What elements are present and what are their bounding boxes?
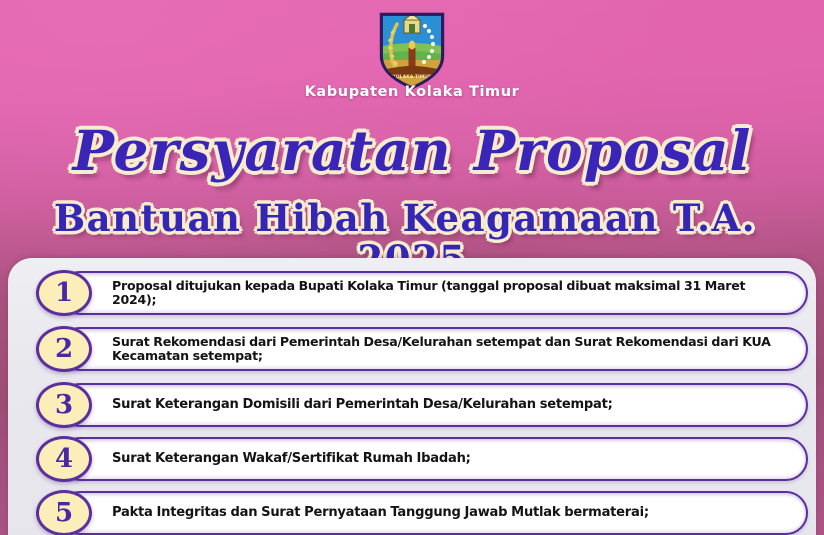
requirement-pill-1: Proposal ditujukan kepada Bupati Kolaka … (58, 271, 808, 315)
list-item: Surat Keterangan Domisili dari Pemerinta… (16, 380, 808, 430)
list-item: Surat Keterangan Wakaf/Sertifikat Rumah … (16, 434, 808, 484)
requirement-badge-1: 1 (36, 270, 92, 316)
poster-root: KOLAKA TIMUR Kabupaten Kolaka Timur Pers… (0, 0, 824, 535)
page-title-word-2: Proposal (474, 118, 752, 183)
requirement-text-3: Surat Keterangan Domisili dari Pemerinta… (112, 397, 613, 412)
requirement-badge-5: 5 (36, 490, 92, 535)
requirement-badge-3: 3 (36, 382, 92, 428)
page-subtitle-word-1: Bantuan (54, 196, 242, 240)
requirement-text-4: Surat Keterangan Wakaf/Sertifikat Rumah … (112, 451, 471, 466)
page-subtitle-word-2: Hibah (255, 196, 388, 240)
requirement-number-1: 1 (55, 280, 73, 306)
requirements-list: Proposal ditujukan kepada Bupati Kolaka … (16, 268, 808, 535)
requirement-pill-5: Pakta Integritas dan Surat Pernyataan Ta… (58, 491, 808, 535)
requirement-pill-4: Surat Keterangan Wakaf/Sertifikat Rumah … (58, 437, 808, 481)
coat-of-arms-icon: KOLAKA TIMUR (375, 10, 449, 88)
requirement-badge-4: 4 (36, 436, 92, 482)
page-subtitle-word-3: Keagamaan (403, 196, 659, 240)
requirement-pill-2: Surat Rekomendasi dari Pemerintah Desa/K… (58, 327, 808, 371)
requirements-panel: Proposal ditujukan kepada Bupati Kolaka … (8, 258, 816, 535)
page-subtitle-word-4: T.A. (673, 196, 756, 240)
requirement-number-5: 5 (55, 500, 73, 526)
requirement-number-2: 2 (55, 336, 73, 362)
organization-name: Kabupaten Kolaka Timur (0, 84, 824, 100)
poster-header: KOLAKA TIMUR Kabupaten Kolaka Timur Pers… (0, 0, 824, 258)
requirement-pill-3: Surat Keterangan Domisili dari Pemerinta… (58, 383, 808, 427)
requirement-text-1: Proposal ditujukan kepada Bupati Kolaka … (112, 279, 786, 308)
requirement-text-5: Pakta Integritas dan Surat Pernyataan Ta… (112, 505, 649, 520)
list-item: Pakta Integritas dan Surat Pernyataan Ta… (16, 488, 808, 535)
list-item: Surat Rekomendasi dari Pemerintah Desa/K… (16, 324, 808, 376)
page-title: PersyaratanProposal (0, 122, 824, 180)
requirement-text-2: Surat Rekomendasi dari Pemerintah Desa/K… (112, 335, 786, 364)
requirement-number-4: 4 (55, 446, 73, 472)
list-item: Proposal ditujukan kepada Bupati Kolaka … (16, 268, 808, 320)
page-title-word-1: Persyaratan (73, 118, 452, 183)
requirement-badge-2: 2 (36, 326, 92, 372)
requirement-number-3: 3 (55, 392, 73, 418)
